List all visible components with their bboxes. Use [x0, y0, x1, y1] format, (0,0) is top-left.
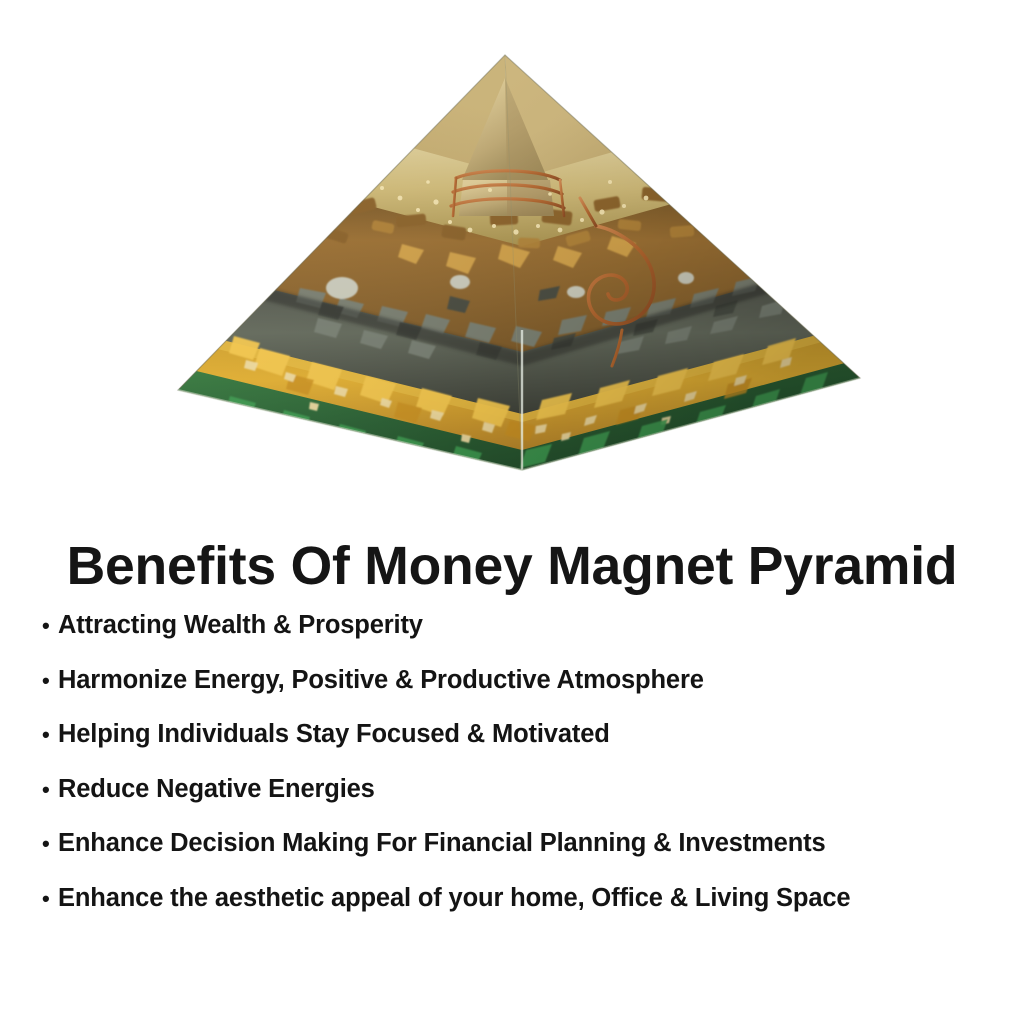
list-item: •Attracting Wealth & Prosperity	[42, 612, 1002, 639]
bullet-icon: •	[42, 831, 58, 857]
bullet-icon: •	[42, 886, 58, 912]
benefit-label: Harmonize Energy, Positive & Productive …	[58, 666, 704, 694]
benefit-label: Helping Individuals Stay Focused & Motiv…	[58, 720, 610, 748]
bullet-icon: •	[42, 668, 58, 694]
list-item: •Enhance Decision Making For Financial P…	[42, 830, 1002, 857]
orgonite-pyramid-illustration	[150, 30, 890, 490]
pyramid-photo	[150, 30, 890, 490]
benefit-label: Attracting Wealth & Prosperity	[58, 611, 423, 639]
list-item: •Harmonize Energy, Positive & Productive…	[42, 667, 1002, 694]
page-title: Benefits Of Money Magnet Pyramid	[5, 536, 1019, 596]
benefits-list: •Attracting Wealth & Prosperity •Harmoni…	[42, 612, 1002, 912]
benefit-label: Enhance Decision Making For Financial Pl…	[58, 829, 826, 857]
benefit-label: Reduce Negative Energies	[58, 775, 375, 803]
bullet-icon: •	[42, 613, 58, 639]
benefit-label: Enhance the aesthetic appeal of your hom…	[58, 884, 850, 912]
bullet-icon: •	[42, 722, 58, 748]
bullet-icon: •	[42, 777, 58, 803]
list-item: •Reduce Negative Energies	[42, 776, 1002, 803]
product-image	[0, 0, 1024, 495]
list-item: •Helping Individuals Stay Focused & Moti…	[42, 721, 1002, 748]
list-item: •Enhance the aesthetic appeal of your ho…	[42, 885, 1002, 912]
product-infographic: Benefits Of Money Magnet Pyramid •Attrac…	[0, 0, 1024, 1016]
